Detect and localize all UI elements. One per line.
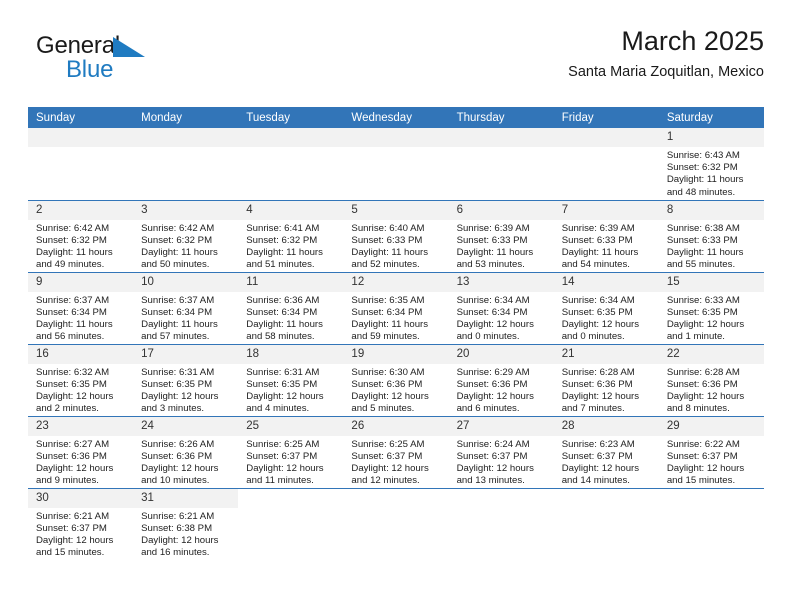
calendar-day-cell-empty — [449, 128, 554, 200]
day-cell-inner: 31Sunrise: 6:21 AMSunset: 6:38 PMDayligh… — [133, 489, 238, 560]
daylight-text-line2: and 48 minutes. — [667, 187, 758, 199]
calendar-day-cell[interactable]: 15Sunrise: 6:33 AMSunset: 6:35 PMDayligh… — [659, 272, 764, 344]
daylight-text-line2: and 58 minutes. — [246, 331, 337, 343]
daylight-text-line1: Daylight: 12 hours — [667, 463, 758, 475]
day-details: Sunrise: 6:27 AMSunset: 6:36 PMDaylight:… — [28, 436, 133, 488]
brand-logo[interactable]: General Blue — [36, 34, 186, 90]
sunset-text: Sunset: 6:36 PM — [141, 451, 232, 463]
sunrise-text: Sunrise: 6:43 AM — [667, 150, 758, 162]
day-cell-inner: 30Sunrise: 6:21 AMSunset: 6:37 PMDayligh… — [28, 489, 133, 560]
daylight-text-line1: Daylight: 11 hours — [36, 247, 127, 259]
day-cell-inner: 19Sunrise: 6:30 AMSunset: 6:36 PMDayligh… — [343, 345, 448, 416]
calendar-day-cell[interactable]: 12Sunrise: 6:35 AMSunset: 6:34 PMDayligh… — [343, 272, 448, 344]
weekday-header-tuesday: Tuesday — [238, 107, 343, 128]
daylight-text-line2: and 13 minutes. — [457, 475, 548, 487]
sunset-text: Sunset: 6:37 PM — [562, 451, 653, 463]
daylight-text-line2: and 51 minutes. — [246, 259, 337, 271]
day-cell-inner: 26Sunrise: 6:25 AMSunset: 6:37 PMDayligh… — [343, 417, 448, 488]
daylight-text-line2: and 6 minutes. — [457, 403, 548, 415]
day-number: 30 — [28, 489, 133, 508]
calendar-day-cell-empty — [659, 488, 764, 562]
day-cell-inner — [449, 128, 554, 147]
day-number: 29 — [659, 417, 764, 436]
daylight-text-line1: Daylight: 11 hours — [246, 319, 337, 331]
day-cell-inner — [554, 489, 659, 508]
calendar-day-cell[interactable]: 28Sunrise: 6:23 AMSunset: 6:37 PMDayligh… — [554, 416, 659, 488]
day-number — [449, 128, 554, 147]
daylight-text-line2: and 53 minutes. — [457, 259, 548, 271]
sunrise-text: Sunrise: 6:38 AM — [667, 223, 758, 235]
sunset-text: Sunset: 6:34 PM — [141, 307, 232, 319]
day-cell-inner — [238, 489, 343, 508]
sunrise-text: Sunrise: 6:37 AM — [141, 295, 232, 307]
sunrise-text: Sunrise: 6:39 AM — [457, 223, 548, 235]
day-number: 18 — [238, 345, 343, 364]
sunrise-text: Sunrise: 6:40 AM — [351, 223, 442, 235]
sunrise-text: Sunrise: 6:35 AM — [351, 295, 442, 307]
daylight-text-line2: and 15 minutes. — [36, 547, 127, 559]
calendar-day-cell[interactable]: 6Sunrise: 6:39 AMSunset: 6:33 PMDaylight… — [449, 200, 554, 272]
daylight-text-line1: Daylight: 11 hours — [36, 319, 127, 331]
day-cell-inner: 25Sunrise: 6:25 AMSunset: 6:37 PMDayligh… — [238, 417, 343, 488]
calendar-day-cell[interactable]: 30Sunrise: 6:21 AMSunset: 6:37 PMDayligh… — [28, 488, 133, 562]
day-cell-inner: 3Sunrise: 6:42 AMSunset: 6:32 PMDaylight… — [133, 201, 238, 272]
day-number — [659, 489, 764, 508]
calendar-day-cell[interactable]: 7Sunrise: 6:39 AMSunset: 6:33 PMDaylight… — [554, 200, 659, 272]
day-cell-inner — [238, 128, 343, 147]
sunrise-text: Sunrise: 6:21 AM — [36, 511, 127, 523]
day-cell-inner: 2Sunrise: 6:42 AMSunset: 6:32 PMDaylight… — [28, 201, 133, 272]
daylight-text-line2: and 3 minutes. — [141, 403, 232, 415]
day-cell-inner: 23Sunrise: 6:27 AMSunset: 6:36 PMDayligh… — [28, 417, 133, 488]
day-cell-inner: 14Sunrise: 6:34 AMSunset: 6:35 PMDayligh… — [554, 273, 659, 344]
calendar-week-row: 16Sunrise: 6:32 AMSunset: 6:35 PMDayligh… — [28, 344, 764, 416]
calendar-day-cell[interactable]: 4Sunrise: 6:41 AMSunset: 6:32 PMDaylight… — [238, 200, 343, 272]
day-details: Sunrise: 6:34 AMSunset: 6:34 PMDaylight:… — [449, 292, 554, 344]
day-cell-inner: 21Sunrise: 6:28 AMSunset: 6:36 PMDayligh… — [554, 345, 659, 416]
sunset-text: Sunset: 6:37 PM — [667, 451, 758, 463]
calendar-day-cell[interactable]: 23Sunrise: 6:27 AMSunset: 6:36 PMDayligh… — [28, 416, 133, 488]
calendar-week-row: 30Sunrise: 6:21 AMSunset: 6:37 PMDayligh… — [28, 488, 764, 562]
daylight-text-line2: and 8 minutes. — [667, 403, 758, 415]
day-details: Sunrise: 6:29 AMSunset: 6:36 PMDaylight:… — [449, 364, 554, 416]
day-details: Sunrise: 6:21 AMSunset: 6:38 PMDaylight:… — [133, 508, 238, 560]
sunrise-text: Sunrise: 6:41 AM — [246, 223, 337, 235]
sunset-text: Sunset: 6:32 PM — [36, 235, 127, 247]
sunset-text: Sunset: 6:34 PM — [36, 307, 127, 319]
day-cell-inner: 12Sunrise: 6:35 AMSunset: 6:34 PMDayligh… — [343, 273, 448, 344]
daylight-text-line1: Daylight: 11 hours — [667, 174, 758, 186]
daylight-text-line1: Daylight: 12 hours — [36, 463, 127, 475]
day-details: Sunrise: 6:28 AMSunset: 6:36 PMDaylight:… — [554, 364, 659, 416]
daylight-text-line1: Daylight: 12 hours — [562, 319, 653, 331]
day-number: 24 — [133, 417, 238, 436]
day-cell-inner: 15Sunrise: 6:33 AMSunset: 6:35 PMDayligh… — [659, 273, 764, 344]
sunset-text: Sunset: 6:33 PM — [457, 235, 548, 247]
calendar-day-cell-empty — [554, 128, 659, 200]
day-details: Sunrise: 6:38 AMSunset: 6:33 PMDaylight:… — [659, 220, 764, 272]
day-cell-inner: 11Sunrise: 6:36 AMSunset: 6:34 PMDayligh… — [238, 273, 343, 344]
sunset-text: Sunset: 6:36 PM — [562, 379, 653, 391]
calendar-day-cell-empty — [28, 128, 133, 200]
day-details: Sunrise: 6:22 AMSunset: 6:37 PMDaylight:… — [659, 436, 764, 488]
day-number: 27 — [449, 417, 554, 436]
sunset-text: Sunset: 6:35 PM — [141, 379, 232, 391]
title-block: March 2025 Santa Maria Zoquitlan, Mexico — [568, 26, 764, 81]
sunset-text: Sunset: 6:32 PM — [667, 162, 758, 174]
day-number: 22 — [659, 345, 764, 364]
calendar-day-cell[interactable]: 24Sunrise: 6:26 AMSunset: 6:36 PMDayligh… — [133, 416, 238, 488]
day-number: 13 — [449, 273, 554, 292]
calendar-day-cell[interactable]: 5Sunrise: 6:40 AMSunset: 6:33 PMDaylight… — [343, 200, 448, 272]
sunset-text: Sunset: 6:34 PM — [351, 307, 442, 319]
sunrise-text: Sunrise: 6:28 AM — [562, 367, 653, 379]
day-number: 17 — [133, 345, 238, 364]
daylight-text-line2: and 2 minutes. — [36, 403, 127, 415]
day-number: 20 — [449, 345, 554, 364]
daylight-text-line1: Daylight: 12 hours — [141, 391, 232, 403]
day-details: Sunrise: 6:21 AMSunset: 6:37 PMDaylight:… — [28, 508, 133, 560]
sunset-text: Sunset: 6:38 PM — [141, 523, 232, 535]
day-number: 3 — [133, 201, 238, 220]
day-number — [554, 128, 659, 147]
calendar-grid: Sunday Monday Tuesday Wednesday Thursday… — [28, 107, 764, 562]
page-title: March 2025 — [568, 26, 764, 57]
day-details: Sunrise: 6:37 AMSunset: 6:34 PMDaylight:… — [133, 292, 238, 344]
day-number — [554, 489, 659, 508]
calendar-day-cell[interactable]: 20Sunrise: 6:29 AMSunset: 6:36 PMDayligh… — [449, 344, 554, 416]
calendar-day-cell[interactable]: 26Sunrise: 6:25 AMSunset: 6:37 PMDayligh… — [343, 416, 448, 488]
sunrise-text: Sunrise: 6:42 AM — [141, 223, 232, 235]
sunset-text: Sunset: 6:36 PM — [351, 379, 442, 391]
daylight-text-line1: Daylight: 12 hours — [351, 463, 442, 475]
daylight-text-line2: and 54 minutes. — [562, 259, 653, 271]
day-cell-inner: 20Sunrise: 6:29 AMSunset: 6:36 PMDayligh… — [449, 345, 554, 416]
sunrise-text: Sunrise: 6:25 AM — [351, 439, 442, 451]
daylight-text-line2: and 0 minutes. — [457, 331, 548, 343]
day-number: 10 — [133, 273, 238, 292]
day-cell-inner: 1Sunrise: 6:43 AMSunset: 6:32 PMDaylight… — [659, 128, 764, 199]
calendar-day-cell-empty — [554, 488, 659, 562]
calendar-day-cell[interactable]: 1Sunrise: 6:43 AMSunset: 6:32 PMDaylight… — [659, 128, 764, 200]
calendar-day-cell-empty — [343, 488, 448, 562]
day-number: 14 — [554, 273, 659, 292]
sunset-text: Sunset: 6:35 PM — [667, 307, 758, 319]
sunrise-text: Sunrise: 6:36 AM — [246, 295, 337, 307]
sunset-text: Sunset: 6:36 PM — [667, 379, 758, 391]
calendar-day-cell-empty — [133, 128, 238, 200]
day-details: Sunrise: 6:33 AMSunset: 6:35 PMDaylight:… — [659, 292, 764, 344]
day-number: 28 — [554, 417, 659, 436]
day-cell-inner: 28Sunrise: 6:23 AMSunset: 6:37 PMDayligh… — [554, 417, 659, 488]
daylight-text-line2: and 16 minutes. — [141, 547, 232, 559]
day-details: Sunrise: 6:25 AMSunset: 6:37 PMDaylight:… — [238, 436, 343, 488]
sunrise-text: Sunrise: 6:28 AM — [667, 367, 758, 379]
sunset-text: Sunset: 6:36 PM — [36, 451, 127, 463]
day-number: 19 — [343, 345, 448, 364]
day-cell-inner: 29Sunrise: 6:22 AMSunset: 6:37 PMDayligh… — [659, 417, 764, 488]
calendar-day-cell[interactable]: 25Sunrise: 6:25 AMSunset: 6:37 PMDayligh… — [238, 416, 343, 488]
calendar-day-cell[interactable]: 14Sunrise: 6:34 AMSunset: 6:35 PMDayligh… — [554, 272, 659, 344]
day-number: 31 — [133, 489, 238, 508]
day-cell-inner: 16Sunrise: 6:32 AMSunset: 6:35 PMDayligh… — [28, 345, 133, 416]
day-details: Sunrise: 6:39 AMSunset: 6:33 PMDaylight:… — [554, 220, 659, 272]
day-number: 4 — [238, 201, 343, 220]
day-details: Sunrise: 6:30 AMSunset: 6:36 PMDaylight:… — [343, 364, 448, 416]
day-number — [449, 489, 554, 508]
day-number: 2 — [28, 201, 133, 220]
day-details: Sunrise: 6:43 AMSunset: 6:32 PMDaylight:… — [659, 147, 764, 199]
daylight-text-line2: and 52 minutes. — [351, 259, 442, 271]
daylight-text-line2: and 15 minutes. — [667, 475, 758, 487]
calendar-day-cell[interactable]: 19Sunrise: 6:30 AMSunset: 6:36 PMDayligh… — [343, 344, 448, 416]
sunrise-text: Sunrise: 6:26 AM — [141, 439, 232, 451]
day-number: 6 — [449, 201, 554, 220]
day-cell-inner — [449, 489, 554, 508]
day-cell-inner: 4Sunrise: 6:41 AMSunset: 6:32 PMDaylight… — [238, 201, 343, 272]
sunrise-text: Sunrise: 6:31 AM — [246, 367, 337, 379]
day-cell-inner — [343, 128, 448, 147]
weekday-header-monday: Monday — [133, 107, 238, 128]
day-cell-inner: 10Sunrise: 6:37 AMSunset: 6:34 PMDayligh… — [133, 273, 238, 344]
sunrise-text: Sunrise: 6:23 AM — [562, 439, 653, 451]
daylight-text-line1: Daylight: 11 hours — [667, 247, 758, 259]
sunset-text: Sunset: 6:34 PM — [246, 307, 337, 319]
daylight-text-line1: Daylight: 11 hours — [351, 319, 442, 331]
daylight-text-line2: and 55 minutes. — [667, 259, 758, 271]
sunrise-text: Sunrise: 6:34 AM — [562, 295, 653, 307]
calendar-day-cell[interactable]: 13Sunrise: 6:34 AMSunset: 6:34 PMDayligh… — [449, 272, 554, 344]
calendar-day-cell[interactable]: 3Sunrise: 6:42 AMSunset: 6:32 PMDaylight… — [133, 200, 238, 272]
calendar-body: 1Sunrise: 6:43 AMSunset: 6:32 PMDaylight… — [28, 128, 764, 562]
calendar-week-row: 1Sunrise: 6:43 AMSunset: 6:32 PMDaylight… — [28, 128, 764, 200]
daylight-text-line2: and 5 minutes. — [351, 403, 442, 415]
day-cell-inner: 5Sunrise: 6:40 AMSunset: 6:33 PMDaylight… — [343, 201, 448, 272]
day-details: Sunrise: 6:37 AMSunset: 6:34 PMDaylight:… — [28, 292, 133, 344]
sunset-text: Sunset: 6:35 PM — [246, 379, 337, 391]
daylight-text-line1: Daylight: 12 hours — [457, 463, 548, 475]
daylight-text-line1: Daylight: 12 hours — [246, 391, 337, 403]
day-number — [238, 489, 343, 508]
calendar-day-cell-empty — [449, 488, 554, 562]
sunrise-text: Sunrise: 6:24 AM — [457, 439, 548, 451]
day-details: Sunrise: 6:36 AMSunset: 6:34 PMDaylight:… — [238, 292, 343, 344]
day-details: Sunrise: 6:23 AMSunset: 6:37 PMDaylight:… — [554, 436, 659, 488]
sunrise-text: Sunrise: 6:37 AM — [36, 295, 127, 307]
day-details: Sunrise: 6:42 AMSunset: 6:32 PMDaylight:… — [28, 220, 133, 272]
daylight-text-line2: and 9 minutes. — [36, 475, 127, 487]
calendar-day-cell[interactable]: 18Sunrise: 6:31 AMSunset: 6:35 PMDayligh… — [238, 344, 343, 416]
calendar-day-cell[interactable]: 9Sunrise: 6:37 AMSunset: 6:34 PMDaylight… — [28, 272, 133, 344]
page-header: General Blue March 2025 Santa Maria Zoqu… — [28, 26, 764, 102]
day-details: Sunrise: 6:31 AMSunset: 6:35 PMDaylight:… — [133, 364, 238, 416]
sunrise-text: Sunrise: 6:31 AM — [141, 367, 232, 379]
sunrise-text: Sunrise: 6:42 AM — [36, 223, 127, 235]
sunset-text: Sunset: 6:35 PM — [562, 307, 653, 319]
calendar-day-cell-empty — [238, 488, 343, 562]
sunrise-text: Sunrise: 6:30 AM — [351, 367, 442, 379]
calendar-day-cell[interactable]: 29Sunrise: 6:22 AMSunset: 6:37 PMDayligh… — [659, 416, 764, 488]
calendar-day-cell[interactable]: 27Sunrise: 6:24 AMSunset: 6:37 PMDayligh… — [449, 416, 554, 488]
daylight-text-line1: Daylight: 12 hours — [562, 391, 653, 403]
day-number: 1 — [659, 128, 764, 147]
daylight-text-line1: Daylight: 12 hours — [141, 535, 232, 547]
weekday-header-wednesday: Wednesday — [343, 107, 448, 128]
sunrise-text: Sunrise: 6:33 AM — [667, 295, 758, 307]
daylight-text-line2: and 11 minutes. — [246, 475, 337, 487]
sunset-text: Sunset: 6:33 PM — [667, 235, 758, 247]
day-number: 16 — [28, 345, 133, 364]
daylight-text-line2: and 10 minutes. — [141, 475, 232, 487]
daylight-text-line1: Daylight: 12 hours — [667, 391, 758, 403]
daylight-text-line1: Daylight: 11 hours — [562, 247, 653, 259]
daylight-text-line2: and 12 minutes. — [351, 475, 442, 487]
sunrise-text: Sunrise: 6:22 AM — [667, 439, 758, 451]
day-cell-inner — [659, 489, 764, 508]
daylight-text-line2: and 56 minutes. — [36, 331, 127, 343]
daylight-text-line2: and 59 minutes. — [351, 331, 442, 343]
day-cell-inner: 24Sunrise: 6:26 AMSunset: 6:36 PMDayligh… — [133, 417, 238, 488]
sunset-text: Sunset: 6:37 PM — [246, 451, 337, 463]
daylight-text-line2: and 57 minutes. — [141, 331, 232, 343]
day-number: 12 — [343, 273, 448, 292]
sunset-text: Sunset: 6:37 PM — [457, 451, 548, 463]
day-details: Sunrise: 6:40 AMSunset: 6:33 PMDaylight:… — [343, 220, 448, 272]
day-number — [343, 128, 448, 147]
daylight-text-line1: Daylight: 12 hours — [246, 463, 337, 475]
calendar-day-cell[interactable]: 8Sunrise: 6:38 AMSunset: 6:33 PMDaylight… — [659, 200, 764, 272]
sunset-text: Sunset: 6:37 PM — [36, 523, 127, 535]
daylight-text-line1: Daylight: 11 hours — [141, 319, 232, 331]
sunrise-text: Sunrise: 6:34 AM — [457, 295, 548, 307]
day-cell-inner: 18Sunrise: 6:31 AMSunset: 6:35 PMDayligh… — [238, 345, 343, 416]
daylight-text-line1: Daylight: 12 hours — [667, 319, 758, 331]
sunset-text: Sunset: 6:33 PM — [562, 235, 653, 247]
sunset-text: Sunset: 6:37 PM — [351, 451, 442, 463]
daylight-text-line1: Daylight: 12 hours — [457, 319, 548, 331]
calendar-day-cell-empty — [343, 128, 448, 200]
day-details: Sunrise: 6:32 AMSunset: 6:35 PMDaylight:… — [28, 364, 133, 416]
calendar-day-cell[interactable]: 2Sunrise: 6:42 AMSunset: 6:32 PMDaylight… — [28, 200, 133, 272]
daylight-text-line1: Daylight: 12 hours — [351, 391, 442, 403]
day-details: Sunrise: 6:25 AMSunset: 6:37 PMDaylight:… — [343, 436, 448, 488]
daylight-text-line1: Daylight: 12 hours — [141, 463, 232, 475]
weekday-header-sunday: Sunday — [28, 107, 133, 128]
day-cell-inner: 13Sunrise: 6:34 AMSunset: 6:34 PMDayligh… — [449, 273, 554, 344]
day-cell-inner — [133, 128, 238, 147]
calendar-day-cell[interactable]: 11Sunrise: 6:36 AMSunset: 6:34 PMDayligh… — [238, 272, 343, 344]
day-cell-inner — [554, 128, 659, 147]
day-number — [28, 128, 133, 147]
day-number: 25 — [238, 417, 343, 436]
page-subtitle: Santa Maria Zoquitlan, Mexico — [568, 64, 764, 81]
day-cell-inner: 7Sunrise: 6:39 AMSunset: 6:33 PMDaylight… — [554, 201, 659, 272]
day-cell-inner: 8Sunrise: 6:38 AMSunset: 6:33 PMDaylight… — [659, 201, 764, 272]
calendar-day-cell[interactable]: 10Sunrise: 6:37 AMSunset: 6:34 PMDayligh… — [133, 272, 238, 344]
day-cell-inner: 17Sunrise: 6:31 AMSunset: 6:35 PMDayligh… — [133, 345, 238, 416]
day-number — [133, 128, 238, 147]
day-details: Sunrise: 6:28 AMSunset: 6:36 PMDaylight:… — [659, 364, 764, 416]
day-number — [343, 489, 448, 508]
sunrise-text: Sunrise: 6:32 AM — [36, 367, 127, 379]
day-number: 9 — [28, 273, 133, 292]
daylight-text-line2: and 50 minutes. — [141, 259, 232, 271]
day-number: 26 — [343, 417, 448, 436]
daylight-text-line2: and 7 minutes. — [562, 403, 653, 415]
daylight-text-line2: and 4 minutes. — [246, 403, 337, 415]
day-cell-inner — [28, 128, 133, 147]
weekday-header-saturday: Saturday — [659, 107, 764, 128]
calendar-day-cell[interactable]: 22Sunrise: 6:28 AMSunset: 6:36 PMDayligh… — [659, 344, 764, 416]
day-cell-inner: 22Sunrise: 6:28 AMSunset: 6:36 PMDayligh… — [659, 345, 764, 416]
sunrise-text: Sunrise: 6:21 AM — [141, 511, 232, 523]
day-cell-inner: 6Sunrise: 6:39 AMSunset: 6:33 PMDaylight… — [449, 201, 554, 272]
day-number: 11 — [238, 273, 343, 292]
day-number: 23 — [28, 417, 133, 436]
calendar-day-cell[interactable]: 16Sunrise: 6:32 AMSunset: 6:35 PMDayligh… — [28, 344, 133, 416]
calendar-page: General Blue March 2025 Santa Maria Zoqu… — [0, 0, 792, 612]
day-details: Sunrise: 6:24 AMSunset: 6:37 PMDaylight:… — [449, 436, 554, 488]
calendar-day-cell[interactable]: 17Sunrise: 6:31 AMSunset: 6:35 PMDayligh… — [133, 344, 238, 416]
day-number: 21 — [554, 345, 659, 364]
calendar-week-row: 9Sunrise: 6:37 AMSunset: 6:34 PMDaylight… — [28, 272, 764, 344]
calendar-day-cell[interactable]: 21Sunrise: 6:28 AMSunset: 6:36 PMDayligh… — [554, 344, 659, 416]
day-cell-inner: 9Sunrise: 6:37 AMSunset: 6:34 PMDaylight… — [28, 273, 133, 344]
day-number: 5 — [343, 201, 448, 220]
sunset-text: Sunset: 6:36 PM — [457, 379, 548, 391]
daylight-text-line1: Daylight: 11 hours — [141, 247, 232, 259]
day-details: Sunrise: 6:42 AMSunset: 6:32 PMDaylight:… — [133, 220, 238, 272]
day-details: Sunrise: 6:39 AMSunset: 6:33 PMDaylight:… — [449, 220, 554, 272]
calendar-week-row: 23Sunrise: 6:27 AMSunset: 6:36 PMDayligh… — [28, 416, 764, 488]
daylight-text-line1: Daylight: 11 hours — [457, 247, 548, 259]
daylight-text-line2: and 1 minute. — [667, 331, 758, 343]
weekday-header-friday: Friday — [554, 107, 659, 128]
brand-name-blue: Blue — [66, 58, 113, 82]
daylight-text-line1: Daylight: 12 hours — [36, 391, 127, 403]
calendar-day-cell-empty — [238, 128, 343, 200]
daylight-text-line2: and 14 minutes. — [562, 475, 653, 487]
sunrise-text: Sunrise: 6:29 AM — [457, 367, 548, 379]
calendar-header-row: Sunday Monday Tuesday Wednesday Thursday… — [28, 107, 764, 128]
day-cell-inner: 27Sunrise: 6:24 AMSunset: 6:37 PMDayligh… — [449, 417, 554, 488]
sunrise-text: Sunrise: 6:27 AM — [36, 439, 127, 451]
brand-name-general: General — [36, 34, 120, 58]
day-details: Sunrise: 6:34 AMSunset: 6:35 PMDaylight:… — [554, 292, 659, 344]
calendar-week-row: 2Sunrise: 6:42 AMSunset: 6:32 PMDaylight… — [28, 200, 764, 272]
sunset-text: Sunset: 6:33 PM — [351, 235, 442, 247]
sunset-text: Sunset: 6:34 PM — [457, 307, 548, 319]
weekday-header-thursday: Thursday — [449, 107, 554, 128]
day-number: 8 — [659, 201, 764, 220]
daylight-text-line2: and 49 minutes. — [36, 259, 127, 271]
daylight-text-line1: Daylight: 11 hours — [246, 247, 337, 259]
day-details: Sunrise: 6:31 AMSunset: 6:35 PMDaylight:… — [238, 364, 343, 416]
day-details: Sunrise: 6:35 AMSunset: 6:34 PMDaylight:… — [343, 292, 448, 344]
sunrise-text: Sunrise: 6:25 AM — [246, 439, 337, 451]
day-number: 7 — [554, 201, 659, 220]
day-cell-inner — [343, 489, 448, 508]
calendar-day-cell[interactable]: 31Sunrise: 6:21 AMSunset: 6:38 PMDayligh… — [133, 488, 238, 562]
day-number: 15 — [659, 273, 764, 292]
daylight-text-line1: Daylight: 12 hours — [457, 391, 548, 403]
daylight-text-line1: Daylight: 12 hours — [562, 463, 653, 475]
daylight-text-line1: Daylight: 11 hours — [351, 247, 442, 259]
daylight-text-line1: Daylight: 12 hours — [36, 535, 127, 547]
sunset-text: Sunset: 6:32 PM — [246, 235, 337, 247]
sunrise-text: Sunrise: 6:39 AM — [562, 223, 653, 235]
sunset-text: Sunset: 6:35 PM — [36, 379, 127, 391]
